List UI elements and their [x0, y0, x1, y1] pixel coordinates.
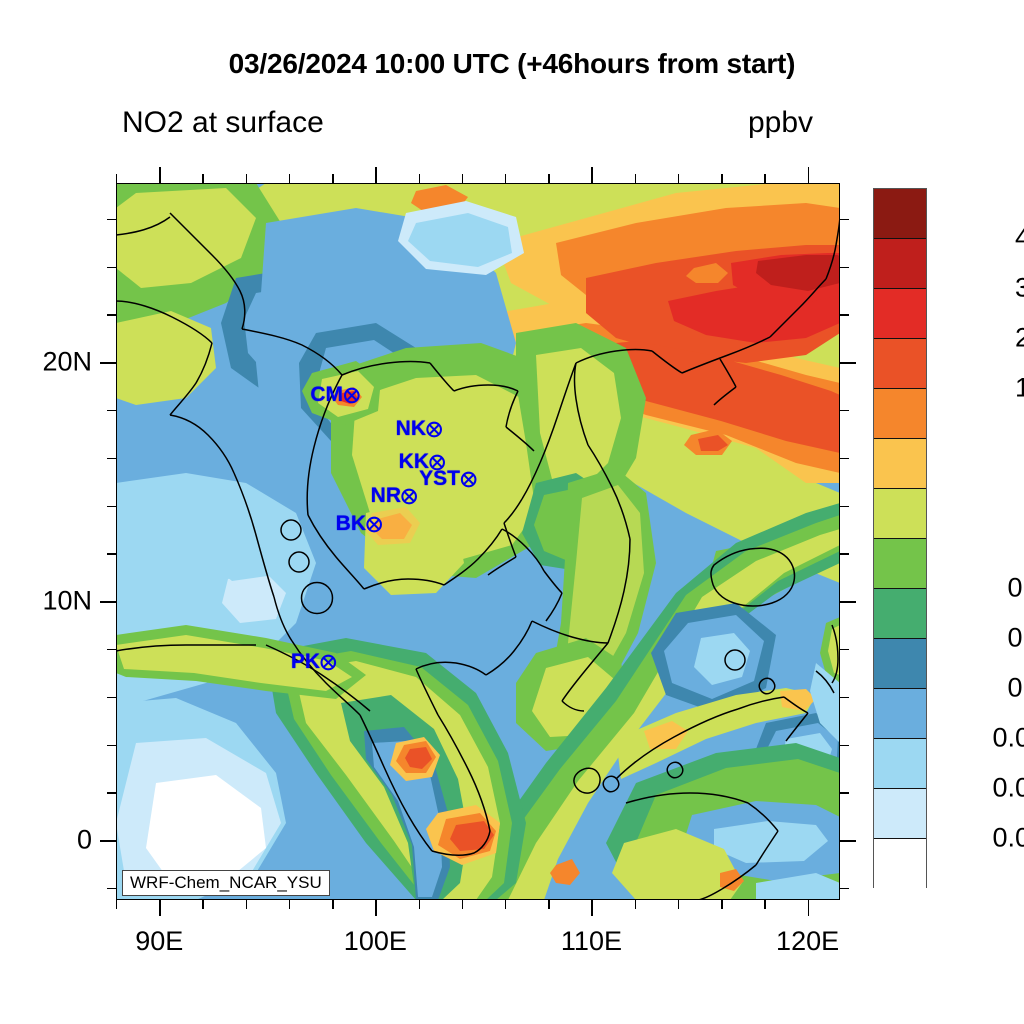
x-tick-minor-top	[764, 174, 765, 183]
station-label-nk: NK	[396, 417, 426, 441]
colorbar-band	[874, 439, 926, 489]
colorbar[interactable]	[873, 188, 927, 888]
x-tick-minor	[764, 900, 765, 909]
y-tick-minor	[107, 745, 116, 746]
y-tick-minor	[107, 267, 116, 268]
y-tick-minor	[107, 314, 116, 315]
colorbar-band	[874, 789, 926, 839]
circle-x-icon	[401, 488, 418, 505]
x-axis-label: 90E	[135, 926, 183, 957]
x-tick-minor-top	[419, 174, 420, 183]
y-tick-minor	[107, 697, 116, 698]
x-tick-minor	[635, 900, 636, 909]
y-tick-major	[100, 840, 116, 842]
colorbar-band	[874, 389, 926, 439]
colorbar-tick-label: 0.08	[935, 723, 1024, 754]
colorbar-band	[874, 639, 926, 689]
y-tick-minor	[107, 888, 116, 889]
x-tick-minor-top	[548, 174, 549, 183]
y-tick-major-right	[840, 362, 856, 364]
plot-title: 03/26/2024 10:00 UTC (+46hours from star…	[0, 48, 1024, 80]
y-axis-label: 0	[0, 825, 92, 856]
colorbar-band	[874, 289, 926, 339]
x-tick-minor	[419, 900, 420, 909]
x-axis-label: 100E	[344, 926, 407, 957]
y-tick-minor	[107, 553, 116, 554]
x-tick-minor-top	[505, 174, 506, 183]
colorbar-tick-label: 30	[935, 273, 1024, 304]
x-tick-minor	[548, 900, 549, 909]
y-tick-minor-right	[840, 888, 849, 889]
colorbar-band	[874, 739, 926, 789]
y-tick-minor-right	[840, 792, 849, 793]
y-tick-minor	[107, 219, 116, 220]
colorbar-tick-label: 3	[935, 473, 1024, 504]
y-tick-minor-right	[840, 267, 849, 268]
colorbar-tick-label: 20	[935, 323, 1024, 354]
station-marker-nr[interactable]: NR	[371, 484, 418, 508]
y-tick-minor	[107, 458, 116, 459]
x-tick-minor-top	[289, 174, 290, 183]
x-tick-minor	[289, 900, 290, 909]
model-watermark: WRF-Chem_NCAR_YSU	[122, 870, 330, 896]
station-label-nr: NR	[371, 484, 401, 508]
x-tick-minor	[505, 900, 506, 909]
x-tick-minor-top	[202, 174, 203, 183]
station-marker-yst[interactable]: YST	[419, 467, 477, 491]
circle-x-icon	[320, 654, 337, 671]
circle-x-icon	[426, 421, 443, 438]
x-tick-major-top	[808, 167, 810, 183]
x-axis-label: 110E	[561, 926, 622, 957]
x-tick-minor-top	[678, 174, 679, 183]
colorbar-band	[874, 189, 926, 239]
station-marker-nk[interactable]: NK	[396, 417, 443, 441]
station-marker-pk[interactable]: PK	[291, 650, 337, 674]
station-marker-bk[interactable]: BK	[336, 512, 383, 536]
x-tick-minor-top	[462, 174, 463, 183]
no2-contour-field	[116, 183, 840, 900]
y-tick-minor	[107, 506, 116, 507]
x-tick-minor-top	[635, 174, 636, 183]
y-axis-label: 10N	[0, 586, 92, 617]
x-tick-minor	[246, 900, 247, 909]
circle-x-icon	[343, 387, 360, 404]
colorbar-tick-label: 5	[935, 423, 1024, 454]
colorbar-band	[874, 239, 926, 289]
y-tick-minor-right	[840, 410, 849, 411]
x-tick-minor	[116, 900, 117, 909]
x-tick-major	[159, 900, 161, 916]
x-tick-major-top	[375, 167, 377, 183]
y-tick-minor-right	[840, 745, 849, 746]
colorbar-band	[874, 339, 926, 389]
x-tick-minor	[721, 900, 722, 909]
map-plot-area: CM NK KK YST NR BK	[116, 183, 840, 900]
y-tick-minor-right	[840, 219, 849, 220]
y-tick-minor	[107, 410, 116, 411]
x-tick-minor-top	[332, 174, 333, 183]
y-axis-label: 20N	[0, 347, 92, 378]
colorbar-tick-label: 0.02	[935, 823, 1024, 854]
station-label-yst: YST	[419, 467, 460, 491]
y-tick-minor	[107, 792, 116, 793]
colorbar-tick-label: 0.2	[935, 673, 1024, 704]
colorbar-tick-label: 10	[935, 373, 1024, 404]
x-tick-minor	[462, 900, 463, 909]
y-tick-major	[100, 362, 116, 364]
colorbar-tick-label: 1	[935, 523, 1024, 554]
circle-x-icon	[366, 516, 383, 533]
colorbar-band	[874, 689, 926, 739]
y-tick-minor-right	[840, 458, 849, 459]
x-tick-major-top	[591, 167, 593, 183]
x-tick-minor-top	[116, 174, 117, 183]
y-tick-minor-right	[840, 314, 849, 315]
colorbar-band	[874, 839, 926, 889]
x-tick-minor-top	[246, 174, 247, 183]
station-label-cm: CM	[310, 383, 343, 407]
y-tick-minor	[107, 649, 116, 650]
colorbar-tick-label: 0.04	[935, 773, 1024, 804]
y-tick-minor-right	[840, 553, 849, 554]
y-tick-major-right	[840, 840, 856, 842]
units-label: ppbv	[748, 106, 813, 140]
x-tick-major	[375, 900, 377, 916]
plot-subtitle: NO2 at surface	[122, 106, 324, 140]
y-tick-minor-right	[840, 506, 849, 507]
x-tick-minor	[202, 900, 203, 909]
x-axis-label: 120E	[776, 926, 839, 957]
x-tick-minor	[678, 900, 679, 909]
colorbar-band	[874, 489, 926, 539]
station-marker-cm[interactable]: CM	[310, 383, 360, 407]
x-tick-minor	[332, 900, 333, 909]
y-tick-major	[100, 601, 116, 603]
colorbar-tick-label: 0.6	[935, 573, 1024, 604]
x-tick-major	[591, 900, 593, 916]
colorbar-tick-label: 40	[935, 223, 1024, 254]
station-label-pk: PK	[291, 650, 320, 674]
circle-x-icon	[460, 471, 477, 488]
y-tick-minor-right	[840, 649, 849, 650]
y-tick-minor-right	[840, 697, 849, 698]
y-tick-major-right	[840, 601, 856, 603]
colorbar-tick-label: 0.3	[935, 623, 1024, 654]
colorbar-band	[874, 539, 926, 589]
station-label-bk: BK	[336, 512, 366, 536]
x-tick-major-top	[159, 167, 161, 183]
x-tick-major	[808, 900, 810, 916]
x-tick-minor-top	[721, 174, 722, 183]
colorbar-band	[874, 589, 926, 639]
